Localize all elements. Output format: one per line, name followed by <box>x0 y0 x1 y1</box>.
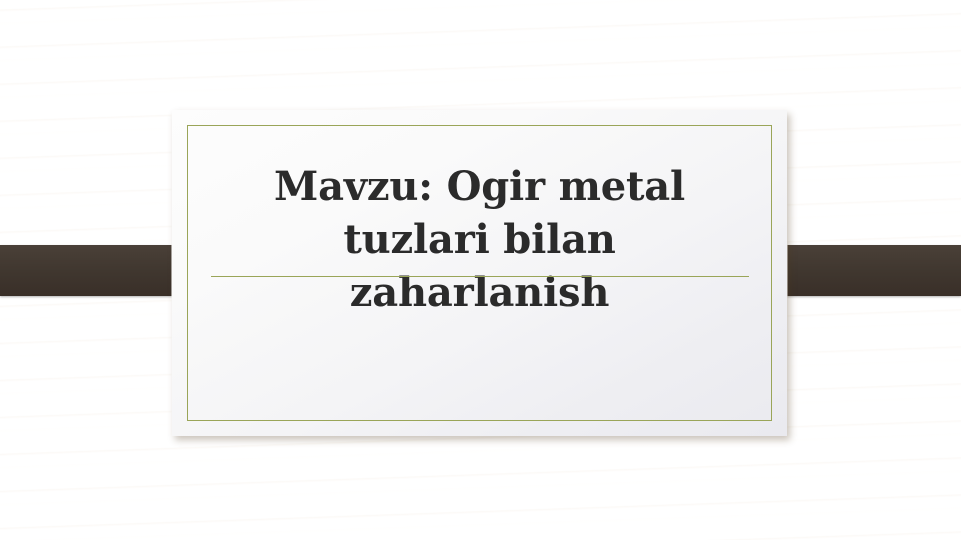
title-block: Mavzu: Ogir metal tuzlari bilan zaharlan… <box>196 160 763 319</box>
title-card: Mavzu: Ogir metal tuzlari bilan zaharlan… <box>172 110 787 436</box>
decorative-bar-left <box>0 245 196 296</box>
page-title: Mavzu: Ogir metal tuzlari bilan zaharlan… <box>196 160 763 319</box>
title-slide: Mavzu: Ogir metal tuzlari bilan zaharlan… <box>0 0 961 540</box>
decorative-bar-right <box>766 245 961 296</box>
